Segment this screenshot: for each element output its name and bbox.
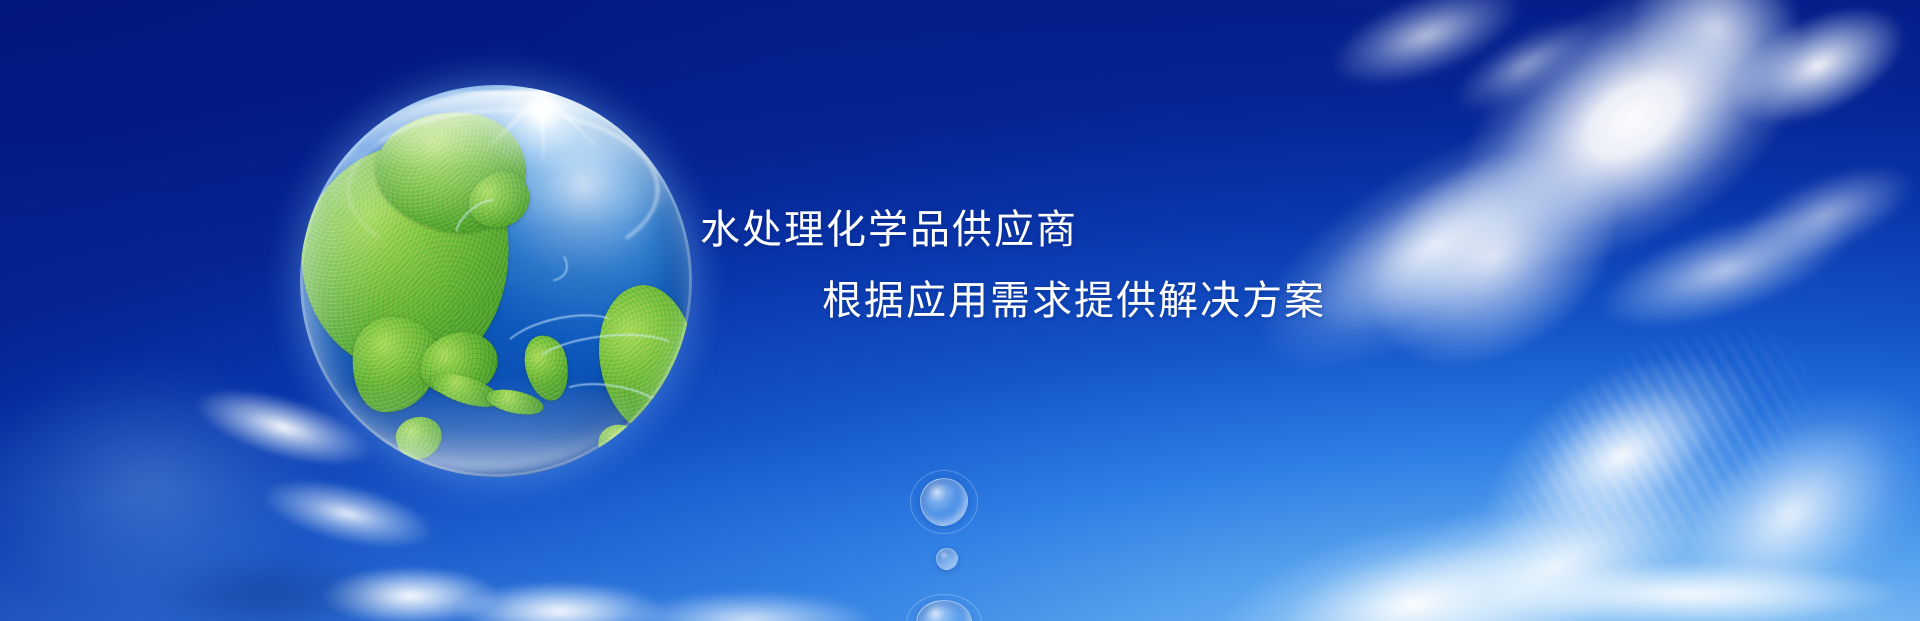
headline-line-1: 水处理化学品供应商 xyxy=(700,197,1078,255)
hero-banner: 水处理化学品供应商 根据应用需求提供解决方案 xyxy=(0,0,1920,621)
globe-sphere xyxy=(300,85,692,477)
crystal-globe xyxy=(300,85,692,477)
headline-line-2: 根据应用需求提供解决方案 xyxy=(822,268,1326,326)
